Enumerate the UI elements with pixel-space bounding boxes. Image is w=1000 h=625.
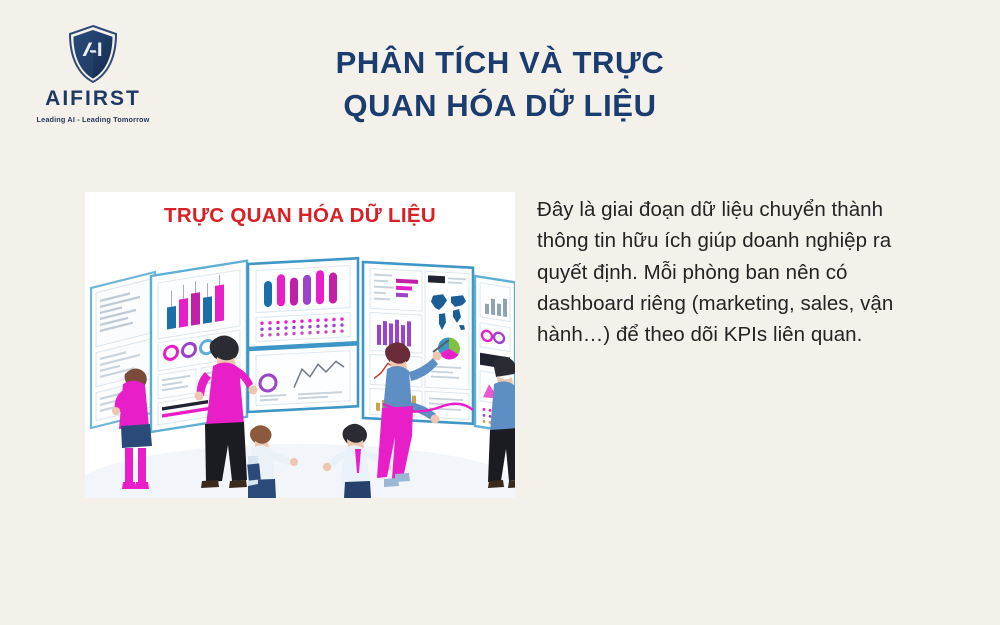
brand-name: AIFIRST [18, 88, 168, 109]
illustration-data-visualization: TRỰC QUAN HÓA DỮ LIỆU [85, 192, 515, 498]
illustration-graphic [85, 192, 515, 498]
page-title-line-1: PHÂN TÍCH VÀ TRỰC [240, 42, 760, 85]
page-title: PHÂN TÍCH VÀ TRỰC QUAN HÓA DỮ LIỆU [240, 42, 760, 128]
shield-ai-icon [67, 24, 119, 84]
brand-tagline: Leading AI - Leading Tomorrow [18, 115, 168, 124]
illustration-caption: TRỰC QUAN HÓA DỮ LIỆU [85, 204, 515, 228]
body-paragraph: Đây là giai đoạn dữ liệu chuyển thành th… [537, 194, 909, 351]
page-title-line-2: QUAN HÓA DỮ LIỆU [240, 85, 760, 128]
brand-logo: AIFIRST Leading AI - Leading Tomorrow [18, 24, 168, 124]
